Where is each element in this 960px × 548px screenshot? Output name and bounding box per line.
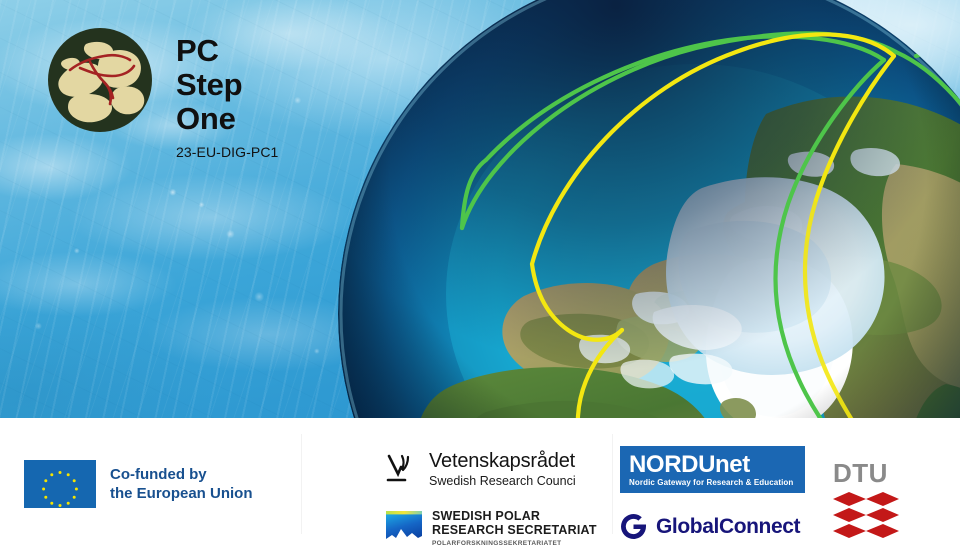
brand-text: PC Step One 23-EU-DIG-PC1 (176, 26, 278, 160)
nordunet-logo: NORDUnet Nordic Gateway for Research & E… (620, 446, 805, 493)
partner-logo-footer: Co-funded by the European Union Vetenska… (0, 418, 960, 548)
poster-page: PC Step One 23-EU-DIG-PC1 (0, 0, 960, 548)
vetenskapsradet-logo: Vetenskapsrådet Swedish Research Counci (385, 451, 600, 489)
vetenskapsradet-name: Vetenskapsrådet (429, 451, 576, 472)
footer-divider-2 (612, 434, 613, 534)
swedish-polar-line-3: POLARFORSKNINGSSEKRETARIATET (432, 539, 597, 548)
swedish-polar-text: SWEDISH POLAR RESEARCH SECRETARIAT POLAR… (432, 509, 597, 548)
swedish-polar-mountain-mark (385, 510, 423, 546)
vetenskapsradet-text: Vetenskapsrådet Swedish Research Counci (429, 451, 576, 489)
arctic-globe-logo (46, 26, 154, 134)
eu-flag (24, 460, 96, 508)
title-line-2: Step (176, 68, 278, 102)
dtu-logo: DTU (833, 460, 899, 543)
nordunet-name: NORDUnet (629, 452, 796, 477)
footer-divider-1 (301, 434, 302, 534)
swedish-polar-logo: SWEDISH POLAR RESEARCH SECRETARIAT POLAR… (385, 509, 600, 548)
hero-banner: PC Step One 23-EU-DIG-PC1 (0, 0, 960, 418)
project-code: 23-EU-DIG-PC1 (176, 144, 278, 160)
title-line-3: One (176, 102, 278, 136)
eu-text-line-2: the European Union (110, 484, 253, 503)
vetenskapsradet-subtitle: Swedish Research Counci (429, 474, 576, 489)
dtu-bowtie-marks (833, 492, 899, 538)
globalconnect-g-icon (620, 513, 647, 540)
brand-block: PC Step One 23-EU-DIG-PC1 (46, 26, 278, 160)
title-line-1: PC (176, 34, 278, 68)
swedish-polar-line-1: SWEDISH POLAR (432, 509, 597, 523)
dtu-name: DTU (833, 460, 899, 486)
globalconnect-name: GlobalConnect (656, 516, 800, 538)
nordunet-tagline: Nordic Gateway for Research & Education (629, 478, 796, 488)
globe-container (336, 0, 960, 418)
vetenskapsradet-mark (385, 453, 421, 487)
eu-text-line-1: Co-funded by (110, 465, 253, 484)
network-partners-column: NORDUnet Nordic Gateway for Research & E… (620, 446, 805, 540)
swedish-polar-line-2: RESEARCH SECRETARIAT (432, 523, 597, 537)
arctic-earth-globe (336, 0, 960, 418)
eu-funding-logo: Co-funded by the European Union (24, 460, 253, 508)
swedish-partners-column: Vetenskapsrådet Swedish Research Counci (385, 451, 600, 548)
eu-funding-text: Co-funded by the European Union (110, 465, 253, 503)
globalconnect-logo: GlobalConnect (620, 513, 805, 540)
